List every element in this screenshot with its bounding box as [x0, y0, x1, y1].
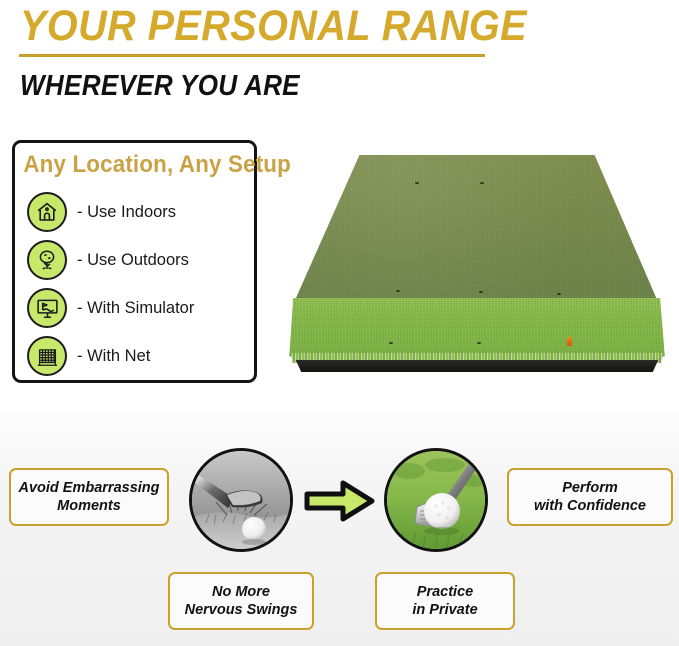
callout-line-2: Nervous Swings [185, 602, 298, 618]
callout-line-1: Practice [417, 584, 473, 600]
callout-line-2: in Private [412, 602, 477, 618]
before-photo-divot [189, 448, 293, 552]
feature-box-title: Any Location, Any Setup [23, 151, 245, 179]
callout-practice-in-private: Practice in Private [375, 572, 515, 630]
title-underline [19, 54, 485, 57]
callout-avoid-embarrassing-moments: Avoid Embarrassing Moments [9, 468, 169, 526]
list-item-label: - With Net [77, 347, 150, 366]
golf-mat-illustration [283, 150, 675, 393]
mat-rubber-base-edge [292, 360, 662, 372]
mat-divot-mark [480, 182, 484, 184]
callout-line-2: Moments [57, 498, 121, 514]
grayscale-golf-divot-illustration [192, 451, 292, 551]
color-golf-ball-grass-illustration [387, 451, 487, 551]
page-subtitle: WHEREVER YOU ARE [20, 69, 300, 103]
callout-line-1: Perform [562, 480, 618, 496]
list-item-label: - With Simulator [77, 299, 194, 318]
list-item: - Use Indoors [27, 188, 248, 236]
callout-text: No More Nervous Swings [185, 583, 298, 619]
mat-divot-mark [557, 293, 561, 295]
feature-box: Any Location, Any Setup - Use Indoors [12, 140, 257, 383]
callout-line-2: with Confidence [534, 498, 646, 514]
list-item-label: - Use Indoors [77, 203, 176, 222]
list-item: - With Net [27, 332, 248, 380]
mat-divot-mark [479, 291, 483, 293]
product-image-golf-mat [283, 150, 675, 393]
top-section: YOUR PERSONAL RANGE WHEREVER YOU ARE Any… [0, 0, 679, 410]
callout-text: Perform with Confidence [534, 479, 646, 515]
tree-icon [27, 240, 67, 280]
callout-perform-with-confidence: Perform with Confidence [507, 468, 673, 526]
mat-divot-mark [477, 342, 481, 344]
list-item: - Use Outdoors [27, 236, 248, 284]
house-icon [27, 192, 67, 232]
callout-line-1: Avoid Embarrassing [18, 480, 159, 496]
callout-line-1: No More [212, 584, 270, 600]
benefits-section: Avoid Embarrassing Moments [0, 410, 679, 646]
infographic-page: YOUR PERSONAL RANGE WHEREVER YOU ARE Any… [0, 0, 679, 646]
list-item: - With Simulator [27, 284, 248, 332]
mat-divot-mark [396, 290, 400, 292]
mat-divot-mark [415, 182, 419, 184]
arrow-right-icon [303, 478, 377, 524]
list-item-label: - Use Outdoors [77, 251, 189, 270]
feature-list: - Use Indoors - Use Outdoors [27, 188, 248, 380]
net-icon [27, 336, 67, 376]
callout-no-more-nervous-swings: No More Nervous Swings [168, 572, 314, 630]
transition-arrow [303, 478, 377, 524]
rubber-tee [567, 337, 572, 346]
page-title: YOUR PERSONAL RANGE [20, 2, 527, 50]
after-photo-clean-strike [384, 448, 488, 552]
mat-divot-mark [389, 342, 393, 344]
callout-text: Avoid Embarrassing Moments [18, 479, 159, 515]
simulator-icon [27, 288, 67, 328]
callout-text: Practice in Private [412, 583, 477, 619]
